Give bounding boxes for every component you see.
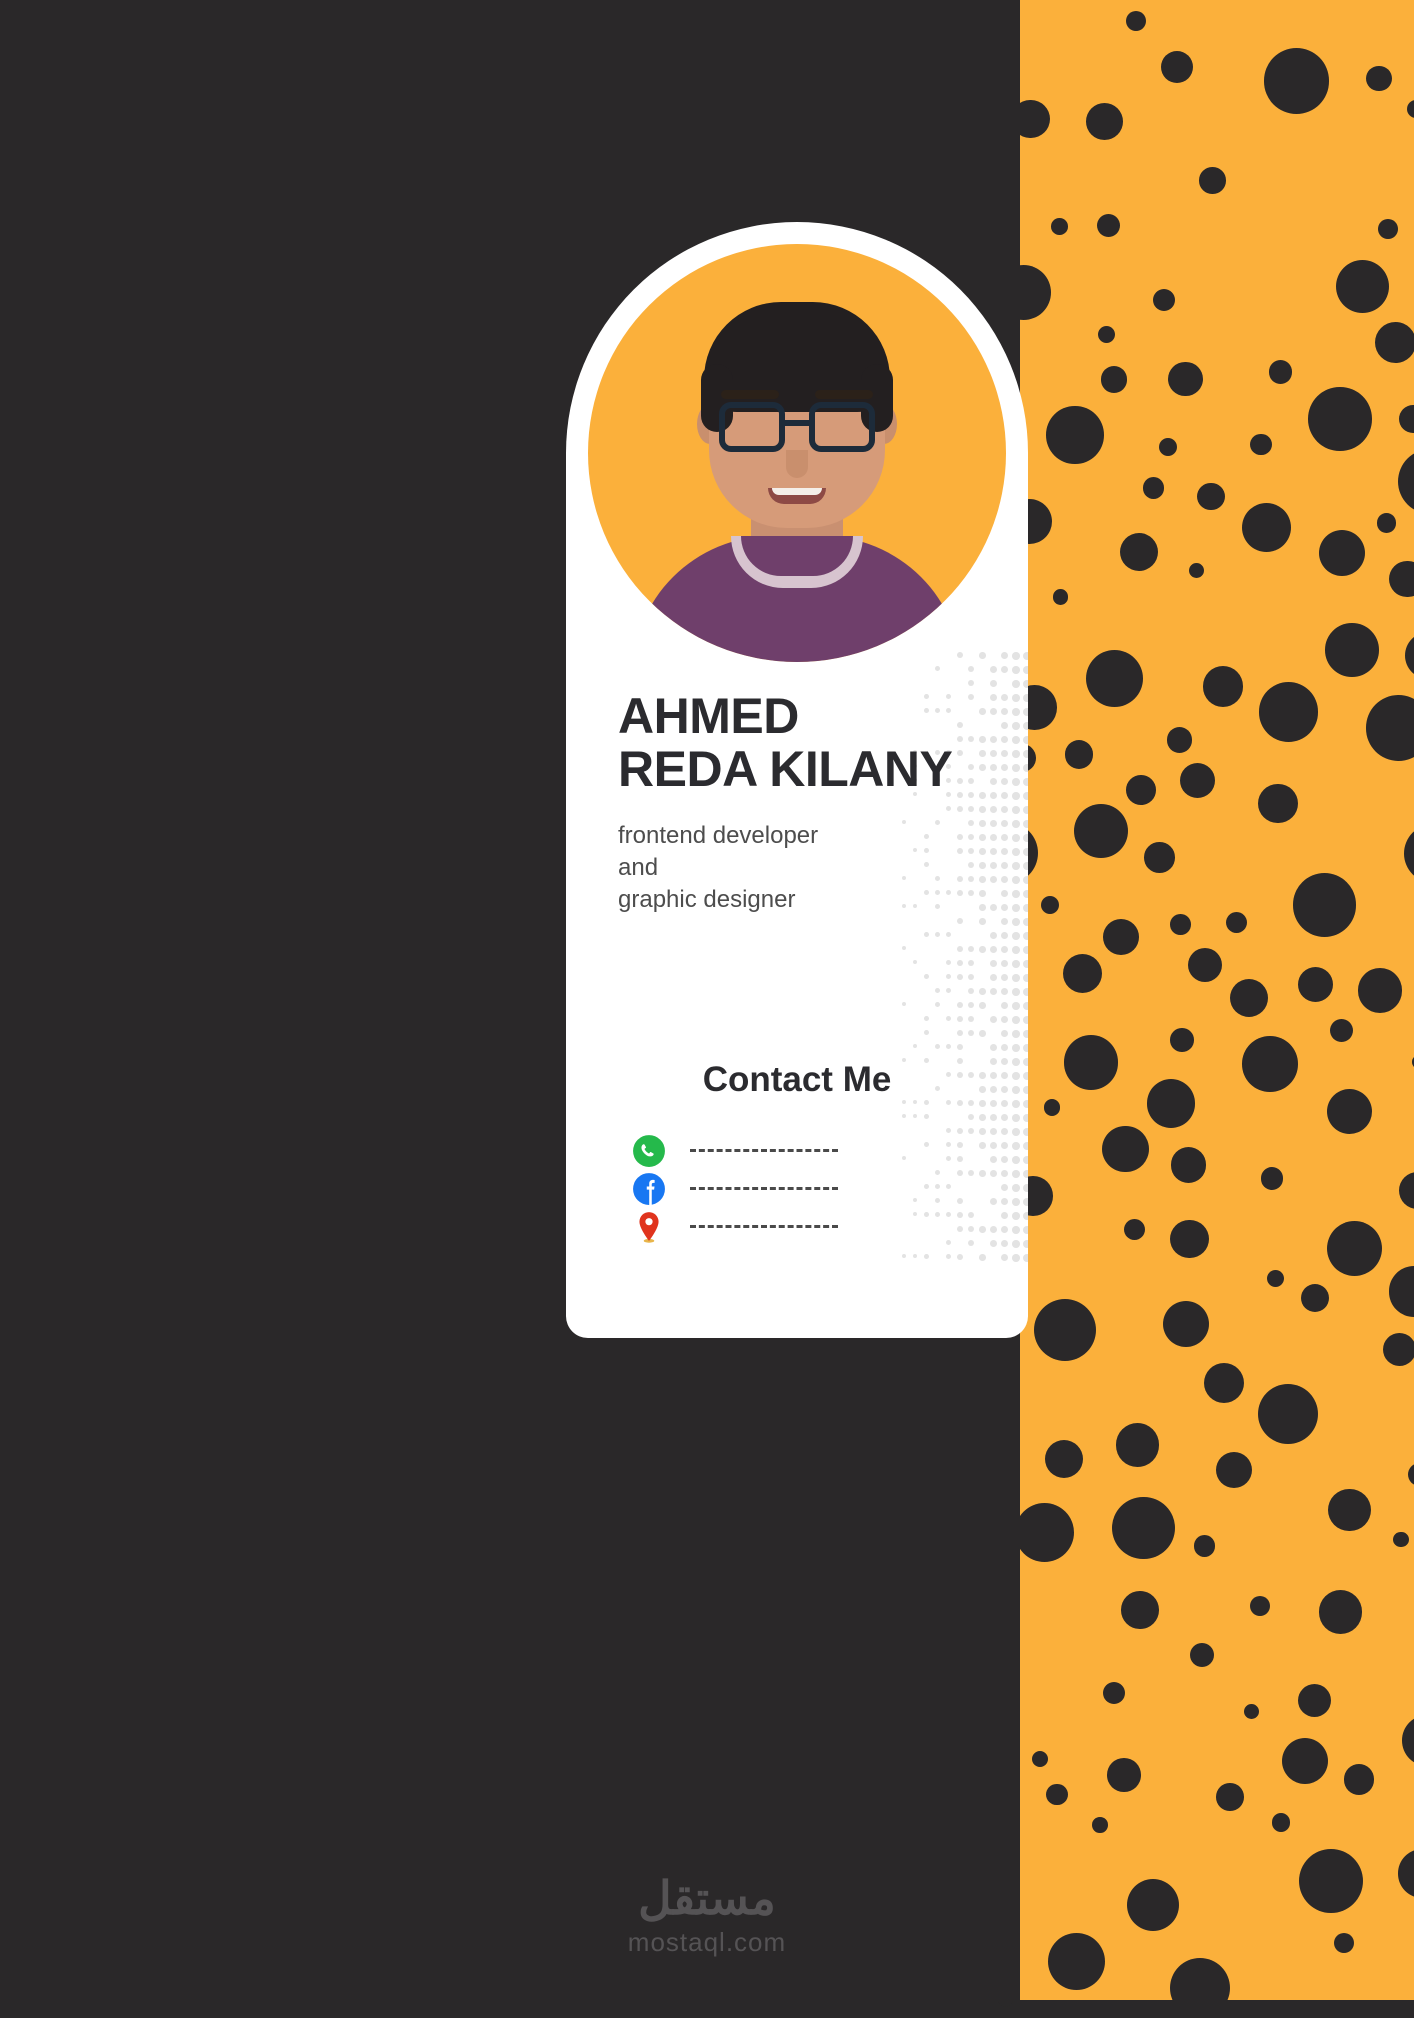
- decorative-dot: [1244, 1704, 1259, 1719]
- profile-card: AHMED REDA KILANY frontend developer and…: [566, 222, 1028, 1338]
- decorative-dot: [1230, 979, 1268, 1017]
- decorative-dot: [1101, 366, 1127, 392]
- decorative-dot: [1402, 1715, 1414, 1766]
- decorative-dot: [1404, 824, 1414, 883]
- avatar: [588, 244, 1006, 662]
- decorative-dot: [1170, 1958, 1230, 2018]
- portrait-eyebrow-right: [815, 390, 873, 399]
- decorative-dot: [1319, 1590, 1362, 1633]
- decorative-dot: [1121, 1591, 1159, 1629]
- profile-name-line2: REDA KILANY: [618, 743, 976, 796]
- profile-role-line3: graphic designer: [618, 884, 976, 916]
- decorative-dot: [1120, 533, 1159, 572]
- decorative-dot: [1092, 1817, 1108, 1833]
- decorative-dot: [1190, 1643, 1214, 1667]
- portrait-nose: [786, 450, 808, 478]
- decorative-dot: [1161, 51, 1193, 83]
- decorative-dot: [1103, 919, 1139, 955]
- decorative-dot: [1124, 1219, 1145, 1240]
- halftone-dot: [1001, 652, 1008, 659]
- decorative-dot: [1032, 1751, 1048, 1767]
- halftone-dot: [968, 666, 974, 672]
- decorative-dot: [1098, 326, 1115, 343]
- profile-name: AHMED REDA KILANY: [618, 690, 976, 796]
- whatsapp-icon[interactable]: [632, 1134, 666, 1168]
- decorative-dot: [1378, 219, 1398, 239]
- watermark-arabic: مستقل: [0, 1871, 1414, 1925]
- decorative-dot: [1086, 650, 1143, 707]
- decorative-dot: [1298, 967, 1334, 1003]
- halftone-dot: [935, 666, 940, 671]
- decorative-dot: [1408, 1463, 1414, 1486]
- decorative-dot: [1282, 1738, 1328, 1784]
- decorative-dot: [1327, 1089, 1373, 1135]
- halftone-dot: [1012, 652, 1020, 660]
- contact-value-placeholder: [690, 1225, 838, 1228]
- decorative-dot: [1398, 449, 1414, 514]
- decorative-dot: [1194, 1535, 1216, 1557]
- profile-role-line2: and: [618, 852, 976, 884]
- decorative-dot: [1116, 1423, 1159, 1466]
- decorative-dot: [1112, 1497, 1174, 1559]
- halftone-dot: [1001, 1254, 1008, 1261]
- decorative-dot: [1103, 1682, 1126, 1705]
- decorative-dot: [1389, 1266, 1414, 1316]
- halftone-dot: [990, 680, 997, 687]
- decorative-dot: [1189, 563, 1204, 578]
- decorative-dot: [1272, 1813, 1291, 1832]
- decorative-dot: [1204, 1363, 1244, 1403]
- decorative-dot: [1147, 1079, 1195, 1127]
- halftone-dot: [1023, 652, 1028, 660]
- contact-value-placeholder: [690, 1187, 838, 1190]
- decorative-dot: [1358, 968, 1402, 1012]
- decorative-dot: [1336, 260, 1389, 313]
- halftone-dot: [990, 666, 997, 673]
- portrait-eyebrow-left: [721, 390, 779, 399]
- decorative-dot: [1242, 503, 1291, 552]
- decorative-dot: [1366, 695, 1414, 760]
- decorative-dot: [1258, 784, 1297, 823]
- decorative-dot: [1308, 387, 1371, 450]
- facebook-icon[interactable]: [632, 1172, 666, 1206]
- contact-value-placeholder: [690, 1149, 838, 1152]
- halftone-dot: [1012, 680, 1020, 688]
- decorative-dot: [1044, 1099, 1061, 1116]
- decorative-dot: [1405, 632, 1414, 679]
- decorative-dot: [1180, 763, 1215, 798]
- halftone-dot: [1023, 666, 1028, 674]
- contact-row[interactable]: [632, 1208, 976, 1246]
- decorative-dot: [1298, 1684, 1331, 1717]
- glasses-lens-right: [809, 402, 875, 452]
- decorative-dot: [1144, 842, 1174, 872]
- decorative-dot: [1051, 218, 1068, 235]
- decorative-dot: [1250, 1596, 1270, 1616]
- halftone-dot: [979, 1254, 986, 1261]
- decorative-dot: [1097, 214, 1120, 237]
- decorative-dot: [1366, 66, 1391, 91]
- halftone-dot: [1012, 1254, 1020, 1262]
- watermark: مستقل mostaql.com: [0, 1871, 1414, 1958]
- halftone-dot: [924, 1254, 929, 1259]
- decorative-dot: [1159, 438, 1177, 456]
- decorative-dot: [1167, 727, 1192, 752]
- decorative-dot: [1086, 103, 1123, 140]
- decorative-dot: [1375, 322, 1414, 364]
- decorative-dot: [1226, 912, 1247, 933]
- glasses-bridge: [785, 420, 809, 426]
- decorative-dot: [1325, 623, 1379, 677]
- decorative-dot: [1377, 513, 1397, 533]
- decorative-dot: [1064, 1035, 1119, 1090]
- decorative-dot: [1250, 434, 1271, 455]
- decorative-dot: [1171, 1147, 1206, 1182]
- halftone-dot: [968, 680, 974, 686]
- decorative-dot: [1330, 1019, 1353, 1042]
- decorative-dot: [1102, 1126, 1149, 1173]
- halftone-dot: [946, 1254, 951, 1259]
- halftone-dot: [913, 1254, 917, 1258]
- decorative-dot: [1046, 1784, 1067, 1805]
- decorative-dot: [1293, 873, 1357, 937]
- halftone-dot: [957, 1254, 963, 1260]
- location-pin-icon[interactable]: [632, 1210, 666, 1244]
- decorative-dot: [1407, 100, 1414, 119]
- decorative-dot: [1399, 1172, 1414, 1209]
- decorative-dot: [1163, 1301, 1209, 1347]
- halftone-dot: [1023, 680, 1028, 688]
- halftone-dot: [1012, 666, 1020, 674]
- halftone-dot: [979, 652, 986, 659]
- decorative-dot: [1170, 914, 1191, 935]
- decorative-dot: [1046, 406, 1103, 463]
- halftone-dot: [1023, 1254, 1028, 1262]
- decorative-dot: [1327, 1221, 1382, 1276]
- decorative-dot: [1168, 362, 1202, 396]
- decorative-dot: [1399, 405, 1414, 433]
- halftone-dot: [902, 1254, 906, 1258]
- decorative-dot: [1063, 954, 1102, 993]
- decorative-dot: [1264, 48, 1329, 113]
- halftone-dot: [1001, 666, 1008, 673]
- decorative-dot: [1199, 167, 1225, 193]
- contact-row[interactable]: [632, 1170, 976, 1208]
- decorative-dot: [1269, 360, 1293, 384]
- decorative-dot: [1267, 1270, 1284, 1287]
- decorative-dot: [1107, 1758, 1141, 1792]
- decorative-dot: [1053, 589, 1068, 604]
- decorative-dot: [1188, 948, 1223, 983]
- decorative-dot: [1126, 775, 1156, 805]
- decorative-dot: [1301, 1284, 1329, 1312]
- decorative-dot: [1259, 682, 1319, 742]
- decorative-dot: [1015, 1503, 1074, 1562]
- decorative-dot: [1197, 483, 1225, 511]
- profile-role: frontend developer and graphic designer: [618, 820, 976, 916]
- decorative-dot: [1126, 11, 1146, 31]
- decorative-dot: [1319, 530, 1365, 576]
- decorative-dot: [1393, 1532, 1409, 1548]
- decorative-dot: [1143, 477, 1165, 499]
- portrait-teeth: [772, 488, 822, 495]
- decorative-dot: [1170, 1028, 1194, 1052]
- profile-details: AHMED REDA KILANY frontend developer and…: [566, 690, 1028, 1246]
- decorative-dot: [1258, 1384, 1318, 1444]
- decorative-dot: [1203, 666, 1243, 706]
- profile-name-line1: AHMED: [618, 690, 976, 743]
- decorative-dot: [1216, 1452, 1252, 1488]
- decorative-dot: [1242, 1036, 1298, 1092]
- watermark-latin: mostaql.com: [0, 1927, 1414, 1958]
- decorative-dot: [1065, 740, 1093, 768]
- contact-row[interactable]: [632, 1132, 976, 1170]
- decorative-dot: [1034, 1299, 1096, 1361]
- contact-list: [618, 1132, 976, 1246]
- decorative-dot: [1328, 1489, 1370, 1531]
- contact-heading: Contact Me: [618, 1060, 976, 1100]
- decorative-dot: [1344, 1764, 1374, 1794]
- decorative-dot: [1045, 1440, 1083, 1478]
- decorative-dot: [1041, 896, 1060, 915]
- decorative-dot: [1216, 1783, 1244, 1811]
- glasses-lens-left: [719, 402, 785, 452]
- decorative-dot: [1170, 1220, 1209, 1259]
- profile-role-line1: frontend developer: [618, 820, 976, 852]
- decorative-dot: [1153, 289, 1175, 311]
- decorative-dot: [1389, 561, 1414, 598]
- decorative-dot: [1383, 1333, 1414, 1366]
- decorative-dot: [1074, 804, 1128, 858]
- decorative-dot: [1261, 1167, 1283, 1189]
